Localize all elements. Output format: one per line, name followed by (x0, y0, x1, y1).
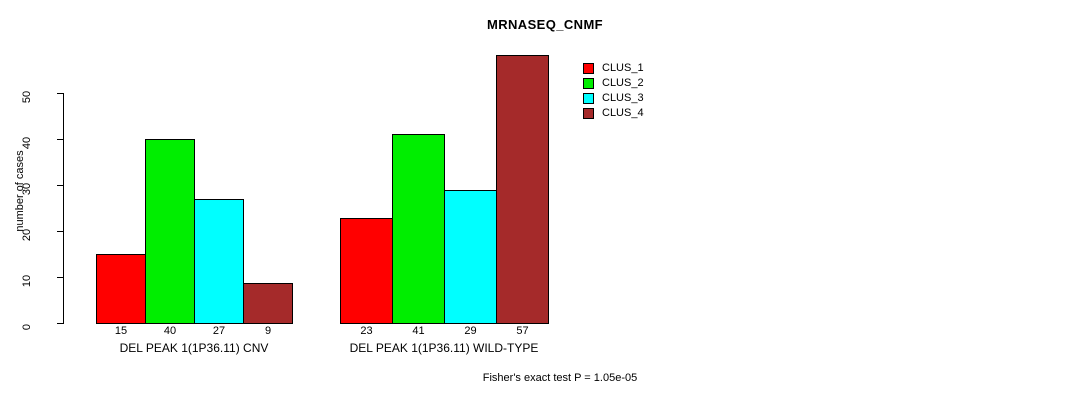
bar-group1-clus3[interactable] (194, 199, 244, 324)
legend: CLUS_1 CLUS_2 CLUS_3 CLUS_4 (583, 61, 713, 121)
bar-value-group2-clus2: 41 (392, 325, 445, 337)
legend-swatch-clus2 (583, 78, 594, 89)
legend-item-clus2[interactable]: CLUS_2 (583, 76, 713, 91)
legend-swatch-clus3 (583, 93, 594, 104)
bar-value-group1-clus2: 40 (145, 325, 195, 337)
legend-item-clus1[interactable]: CLUS_1 (583, 61, 713, 76)
y-axis-line (63, 93, 64, 323)
y-tick-mark-0 (57, 323, 64, 324)
bar-group1-clus4[interactable] (243, 283, 293, 324)
bar-value-group1-clus1: 15 (96, 325, 146, 337)
legend-label-clus1: CLUS_1 (602, 61, 644, 76)
y-tick-mark-50 (57, 93, 64, 94)
legend-label-clus3: CLUS_3 (602, 91, 644, 106)
bar-value-group2-clus4: 57 (496, 325, 549, 337)
y-tick-mark-20 (57, 231, 64, 232)
bar-group2-clus2[interactable] (392, 134, 445, 324)
bar-value-group2-clus1: 23 (340, 325, 393, 337)
statistical-annotation: Fisher's exact test P = 1.05e-05 (380, 372, 740, 384)
y-tick-label-10: 10 (0, 271, 55, 283)
bar-group2-clus4[interactable] (496, 55, 549, 324)
bar-group2-clus3[interactable] (444, 190, 497, 324)
legend-swatch-clus4 (583, 108, 594, 119)
bar-value-group1-clus3: 27 (194, 325, 244, 337)
y-tick-label-30: 30 (0, 179, 55, 191)
y-tick-mark-40 (57, 139, 64, 140)
group-label-wildtype: DEL PEAK 1(1P36.11) WILD-TYPE (294, 341, 594, 355)
barplot-figure: MRNASEQ_CNMF 0 10 20 30 40 50 number of … (0, 0, 1090, 400)
y-tick-mark-10 (57, 277, 64, 278)
y-tick-label-0: 0 (0, 317, 55, 329)
legend-swatch-clus1 (583, 63, 594, 74)
bar-value-group1-clus4: 9 (243, 325, 293, 337)
y-tick-label-20: 20 (0, 225, 55, 237)
legend-label-clus2: CLUS_2 (602, 76, 644, 91)
bar-group2-clus1[interactable] (340, 218, 393, 324)
bar-group1-clus1[interactable] (96, 254, 146, 324)
y-axis-label: number of cases (14, 131, 26, 251)
plot-area: 0 10 20 30 40 50 number of cases 15 40 2… (0, 0, 580, 400)
bar-value-group2-clus3: 29 (444, 325, 497, 337)
legend-label-clus4: CLUS_4 (602, 106, 644, 121)
legend-item-clus3[interactable]: CLUS_3 (583, 91, 713, 106)
y-tick-label-50: 50 (0, 87, 55, 99)
y-tick-label-40: 40 (0, 133, 55, 145)
legend-item-clus4[interactable]: CLUS_4 (583, 106, 713, 121)
y-tick-mark-30 (57, 185, 64, 186)
bar-group1-clus2[interactable] (145, 139, 195, 324)
